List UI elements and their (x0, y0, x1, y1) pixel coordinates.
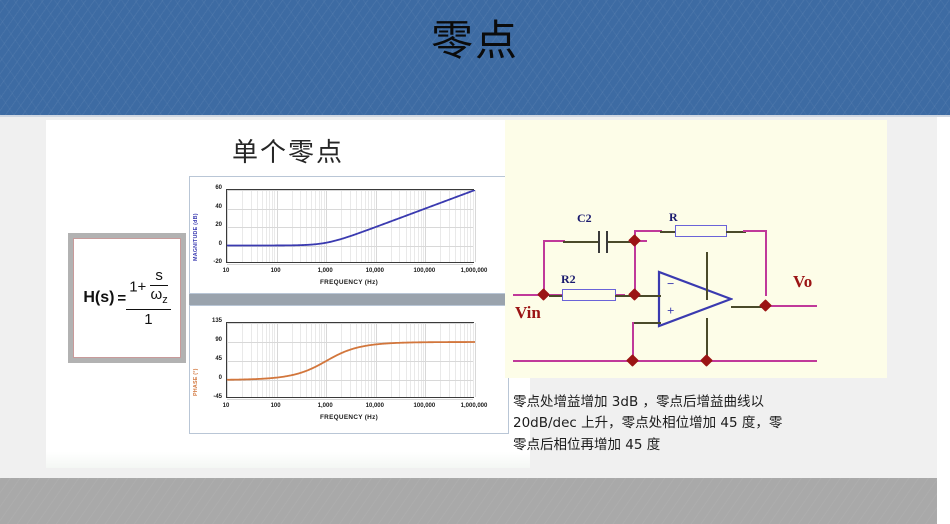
figure-heading: 单个零点 (46, 132, 530, 169)
bode-plot-figure-panel: 单个零点 H(s) = 1+ s ωz (46, 120, 530, 468)
x-axis-tick-label: 100 (256, 268, 296, 274)
formula-omega-subscript: z (162, 294, 168, 306)
node-input (537, 288, 550, 301)
wire-r-left-dark (660, 231, 676, 233)
phase-plot: 13590450-45101001,00010,000100,0001,000,… (189, 305, 509, 434)
resistor-r-feedback (675, 225, 727, 237)
formula-numerator-lead: 1+ (129, 278, 146, 295)
caption-line-3: 零点后相位再增加 45 度 (513, 435, 873, 456)
opamp-noninverting-sign: + (667, 303, 674, 319)
explanation-text: 零点处增益增加 3dB ，零点后增益曲线以 20dB/dec 上升，零点处相位增… (513, 392, 873, 456)
y-axis-tick-label: 45 (200, 356, 222, 362)
slide-canvas: 零点 单个零点 H(s) = 1+ s ωz (0, 0, 950, 524)
formula-inner-numerator: s (155, 268, 163, 284)
gridline-major-y (227, 264, 473, 265)
wire-feedback-top-right (743, 230, 767, 232)
y-axis-tick-label: -45 (200, 394, 222, 400)
caption-line-2: 20dB/dec 上升，零点处相位增加 45 度，零 (513, 413, 873, 434)
y-axis-tick-label: 40 (200, 204, 222, 210)
y-axis-tick-label: 135 (200, 318, 222, 324)
opamp-circuit-figure: C2 R2 R − + (505, 120, 887, 378)
x-axis-tick-label: 1,000,000 (454, 403, 494, 409)
caption-line-1: 零点处增益增加 3dB ，零点后增益曲线以 (513, 392, 873, 413)
node-ground-right (700, 354, 713, 367)
formula-numerator: 1+ s ωz (126, 268, 171, 307)
x-axis-tick-label: 10 (206, 403, 246, 409)
y-axis-tick-label: 0 (200, 241, 222, 247)
node-ground-left (626, 354, 639, 367)
x-axis-tick-label: 1,000 (305, 268, 345, 274)
resistor-r2 (562, 289, 616, 301)
slide-title-banner: 零点 (0, 0, 950, 117)
opamp-symbol: − + (657, 270, 733, 328)
formula-inner-fraction: s ωz (150, 268, 167, 307)
formula-inner-denominator: ωz (150, 287, 167, 307)
formula-equals: = (117, 290, 126, 307)
y-axis-tick-label: 0 (200, 375, 222, 381)
x-axis-tick-label: 1,000 (305, 403, 345, 409)
wire-cap-left-dark (563, 241, 599, 243)
resistor-label-r: R (669, 210, 678, 225)
wire-cap-left-lead (543, 240, 565, 242)
transfer-function-inner: H(s) = 1+ s ωz 1 (73, 238, 181, 358)
data-series-line (227, 323, 475, 399)
wire-feedback-down (765, 230, 767, 296)
resistor-label-r2: R2 (561, 272, 576, 287)
plot-area (226, 322, 474, 398)
x-axis-title: FREQUENCY (Hz) (190, 279, 508, 286)
gridline-major-y (227, 399, 473, 400)
wire-output-rail (769, 305, 817, 307)
transfer-function-box: H(s) = 1+ s ωz 1 (68, 233, 186, 363)
gridline-major-x (475, 190, 476, 262)
page-title: 零点 (0, 18, 950, 64)
formula-lhs: H(s) (83, 289, 114, 307)
label-vin: Vin (515, 303, 541, 323)
x-axis-tick-label: 100,000 (404, 268, 444, 274)
gridline-major-x (475, 323, 476, 397)
wire-inverting-input (641, 295, 661, 297)
x-axis-tick-label: 10 (206, 268, 246, 274)
node-summing (628, 288, 641, 301)
x-axis-tick-label: 1,000,000 (454, 268, 494, 274)
formula-main-bar (126, 309, 171, 311)
transfer-function-formula: H(s) = 1+ s ωz 1 (83, 268, 170, 328)
plot-area (226, 189, 474, 263)
page-right-margin (937, 117, 950, 524)
y-axis-title: MAGNITUDE (dB) (193, 213, 199, 261)
wire-ground-rail (513, 360, 817, 362)
wire-feedback-top-left (634, 230, 662, 232)
formula-fraction: 1+ s ωz 1 (126, 268, 171, 328)
panel-bottom-fade (46, 452, 530, 468)
label-vo: Vo (793, 272, 812, 292)
wire-noninverting-input (633, 322, 661, 324)
slide-footer-band (0, 478, 937, 524)
formula-denominator: 1 (141, 312, 155, 328)
x-axis-tick-label: 100 (256, 403, 296, 409)
capacitor-label-c2: C2 (577, 211, 592, 226)
node-cap-right (628, 234, 641, 247)
wire-opamp-positive-supply (706, 252, 708, 300)
plot-separator-bar (189, 294, 509, 305)
x-axis-tick-label: 10,000 (355, 403, 395, 409)
x-axis-tick-label: 100,000 (404, 403, 444, 409)
capacitor-plate-left (598, 231, 600, 253)
data-series-line (227, 190, 475, 264)
bode-plot-stack: 6040200-20101001,00010,000100,0001,000,0… (189, 176, 509, 446)
y-axis-tick-label: 20 (200, 222, 222, 228)
y-axis-title: PHASE (°) (193, 368, 199, 396)
x-axis-title: FREQUENCY (Hz) (190, 414, 508, 421)
opamp-inverting-sign: − (667, 276, 674, 292)
x-axis-tick-label: 10,000 (355, 268, 395, 274)
wire-r2-left (549, 295, 563, 297)
magnitude-plot: 6040200-20101001,00010,000100,0001,000,0… (189, 176, 509, 294)
y-axis-tick-label: 90 (200, 337, 222, 343)
y-axis-tick-label: -20 (200, 259, 222, 265)
y-axis-tick-label: 60 (200, 185, 222, 191)
node-output (759, 299, 772, 312)
